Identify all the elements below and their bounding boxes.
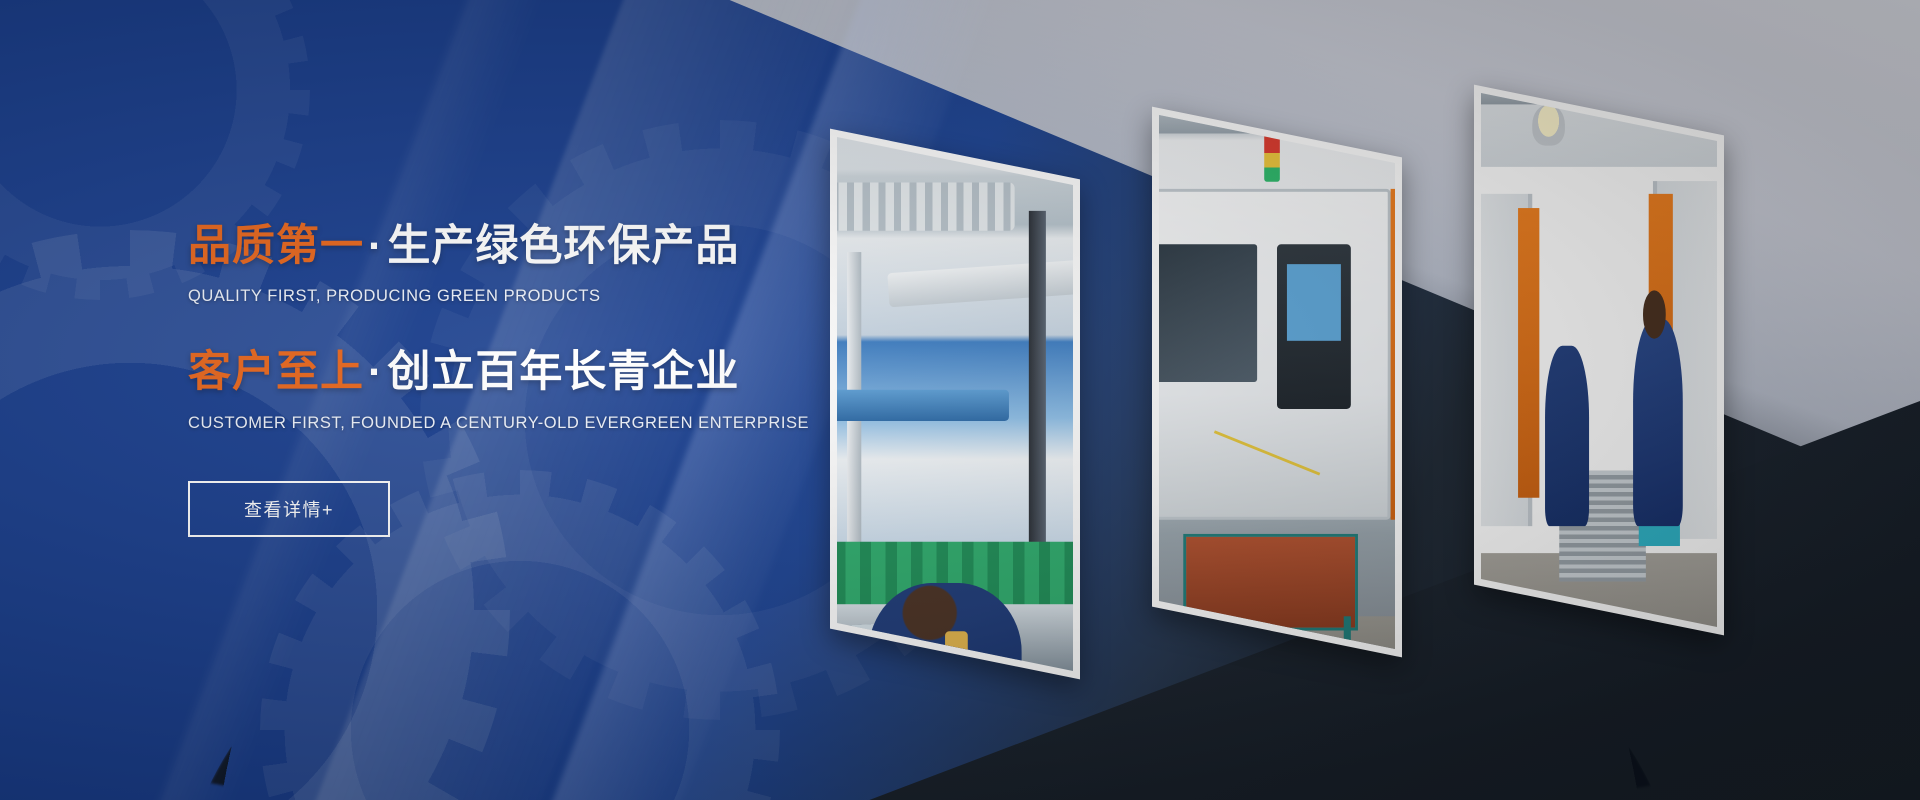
headline-primary-rest: 生产绿色环保产品 [387, 222, 739, 270]
photo-frame [837, 137, 1073, 671]
photo-panel-1[interactable] [830, 129, 1080, 680]
headline-primary-accent: 品质第一 [188, 222, 364, 270]
headline-secondary-rest: 创立百年长青企业 [387, 348, 739, 396]
hero-banner: 品质第一·生产绿色环保产品 QUALITY FIRST, PRODUCING G… [0, 0, 1920, 800]
photo-frame [1481, 93, 1717, 627]
view-details-button[interactable]: 查看详情+ [188, 481, 390, 537]
photo-cnc-machining-cell [1159, 115, 1395, 649]
photo-panel-3[interactable] [1474, 85, 1724, 636]
photo-collage [800, 110, 1920, 670]
headline-primary-separator: · [368, 222, 383, 270]
headline-secondary-separator: · [368, 348, 383, 396]
photo-workshop-aisle-operators [1481, 93, 1717, 627]
headline-secondary-accent: 客户至上 [188, 348, 364, 396]
photo-panel-2[interactable] [1152, 107, 1402, 658]
photo-frame [1159, 115, 1395, 649]
photo-injection-moulding-line [837, 137, 1073, 671]
